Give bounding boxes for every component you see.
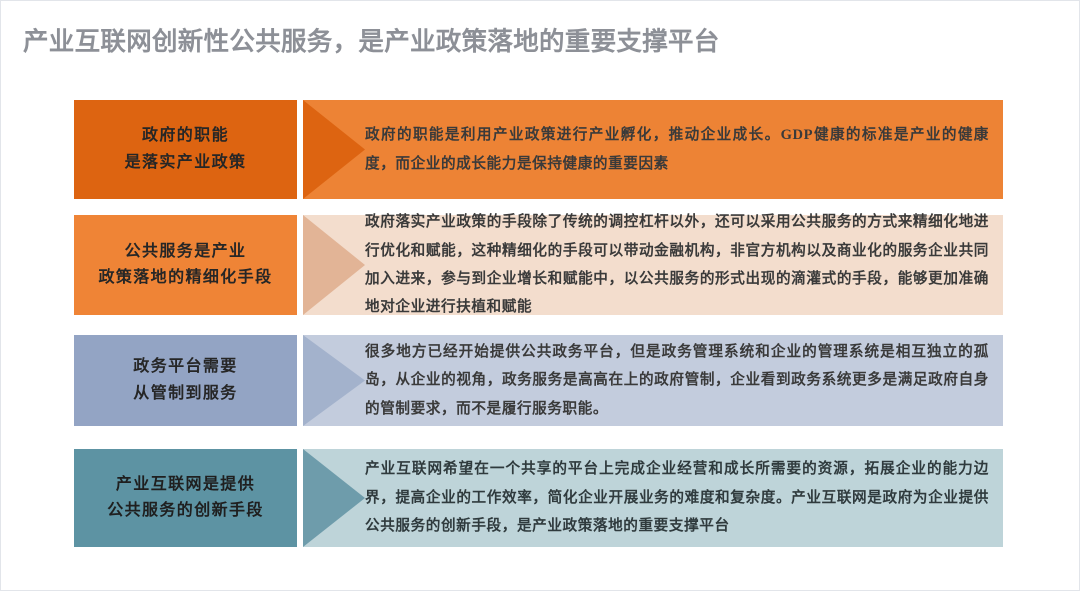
row-content-box: 很多地方已经开始提供公共政务平台，但是政务管理系统和企业的管理系统是相互独立的孤… bbox=[303, 335, 1003, 426]
row-content-box: 政府的职能是利用产业政策进行产业孵化，推动企业成长。GDP健康的标准是产业的健康… bbox=[303, 100, 1003, 199]
slide-canvas: 产业互联网创新性公共服务，是产业政策落地的重要支撑平台 政府的职能是利用产业政策… bbox=[0, 0, 1080, 591]
arrow-triangle-shape bbox=[303, 100, 365, 199]
row-content-text: 很多地方已经开始提供公共政务平台，但是政务管理系统和企业的管理系统是相互独立的孤… bbox=[365, 335, 989, 426]
row-label-box: 政务平台需要 从管制到服务 bbox=[74, 335, 297, 426]
row-content-box: 政府落实产业政策的手段除了传统的调控杠杆以外，还可以采用公共服务的方式来精细化地… bbox=[303, 215, 1003, 315]
arrow-connector bbox=[303, 100, 365, 199]
arrow-connector bbox=[303, 215, 365, 315]
process-rows: 政府的职能是利用产业政策进行产业孵化，推动企业成长。GDP健康的标准是产业的健康… bbox=[1, 1, 1080, 591]
arrow-connector bbox=[303, 449, 365, 547]
arrow-triangle-shape bbox=[303, 335, 365, 426]
process-row: 产业互联网希望在一个共享的平台上完成企业经营和成长所需要的资源，拓展企业的能力边… bbox=[74, 449, 1003, 547]
row-label-line: 政策落地的精细化手段 bbox=[98, 265, 272, 291]
process-row: 政府落实产业政策的手段除了传统的调控杠杆以外，还可以采用公共服务的方式来精细化地… bbox=[74, 215, 1003, 315]
row-label-line: 从管制到服务 bbox=[133, 381, 237, 407]
process-row: 很多地方已经开始提供公共政务平台，但是政务管理系统和企业的管理系统是相互独立的孤… bbox=[74, 335, 1003, 426]
row-label-box: 产业互联网是提供 公共服务的创新手段 bbox=[74, 449, 297, 547]
row-label-box: 公共服务是产业 政策落地的精细化手段 bbox=[74, 215, 297, 315]
row-content-text: 政府的职能是利用产业政策进行产业孵化，推动企业成长。GDP健康的标准是产业的健康… bbox=[365, 100, 989, 199]
row-content-text: 产业互联网希望在一个共享的平台上完成企业经营和成长所需要的资源，拓展企业的能力边… bbox=[365, 449, 989, 547]
row-label-line: 产业互联网是提供 bbox=[116, 472, 255, 498]
chevron-right-icon bbox=[303, 100, 365, 199]
arrow-connector bbox=[303, 335, 365, 426]
arrow-triangle-shape bbox=[303, 449, 365, 547]
row-label-line: 公共服务的创新手段 bbox=[107, 498, 264, 524]
chevron-right-icon bbox=[303, 335, 365, 426]
row-label-line: 政务平台需要 bbox=[133, 354, 237, 380]
row-label-line: 是落实产业政策 bbox=[125, 150, 247, 176]
chevron-right-icon bbox=[303, 215, 365, 315]
row-label-line: 政府的职能 bbox=[142, 123, 229, 149]
arrow-triangle-shape bbox=[303, 215, 365, 315]
process-row: 政府的职能是利用产业政策进行产业孵化，推动企业成长。GDP健康的标准是产业的健康… bbox=[74, 100, 1003, 199]
row-content-text: 政府落实产业政策的手段除了传统的调控杠杆以外，还可以采用公共服务的方式来精细化地… bbox=[365, 215, 989, 315]
row-content-box: 产业互联网希望在一个共享的平台上完成企业经营和成长所需要的资源，拓展企业的能力边… bbox=[303, 449, 1003, 547]
chevron-right-icon bbox=[303, 449, 365, 547]
row-label-box: 政府的职能 是落实产业政策 bbox=[74, 100, 297, 199]
row-label-line: 公共服务是产业 bbox=[125, 239, 247, 265]
